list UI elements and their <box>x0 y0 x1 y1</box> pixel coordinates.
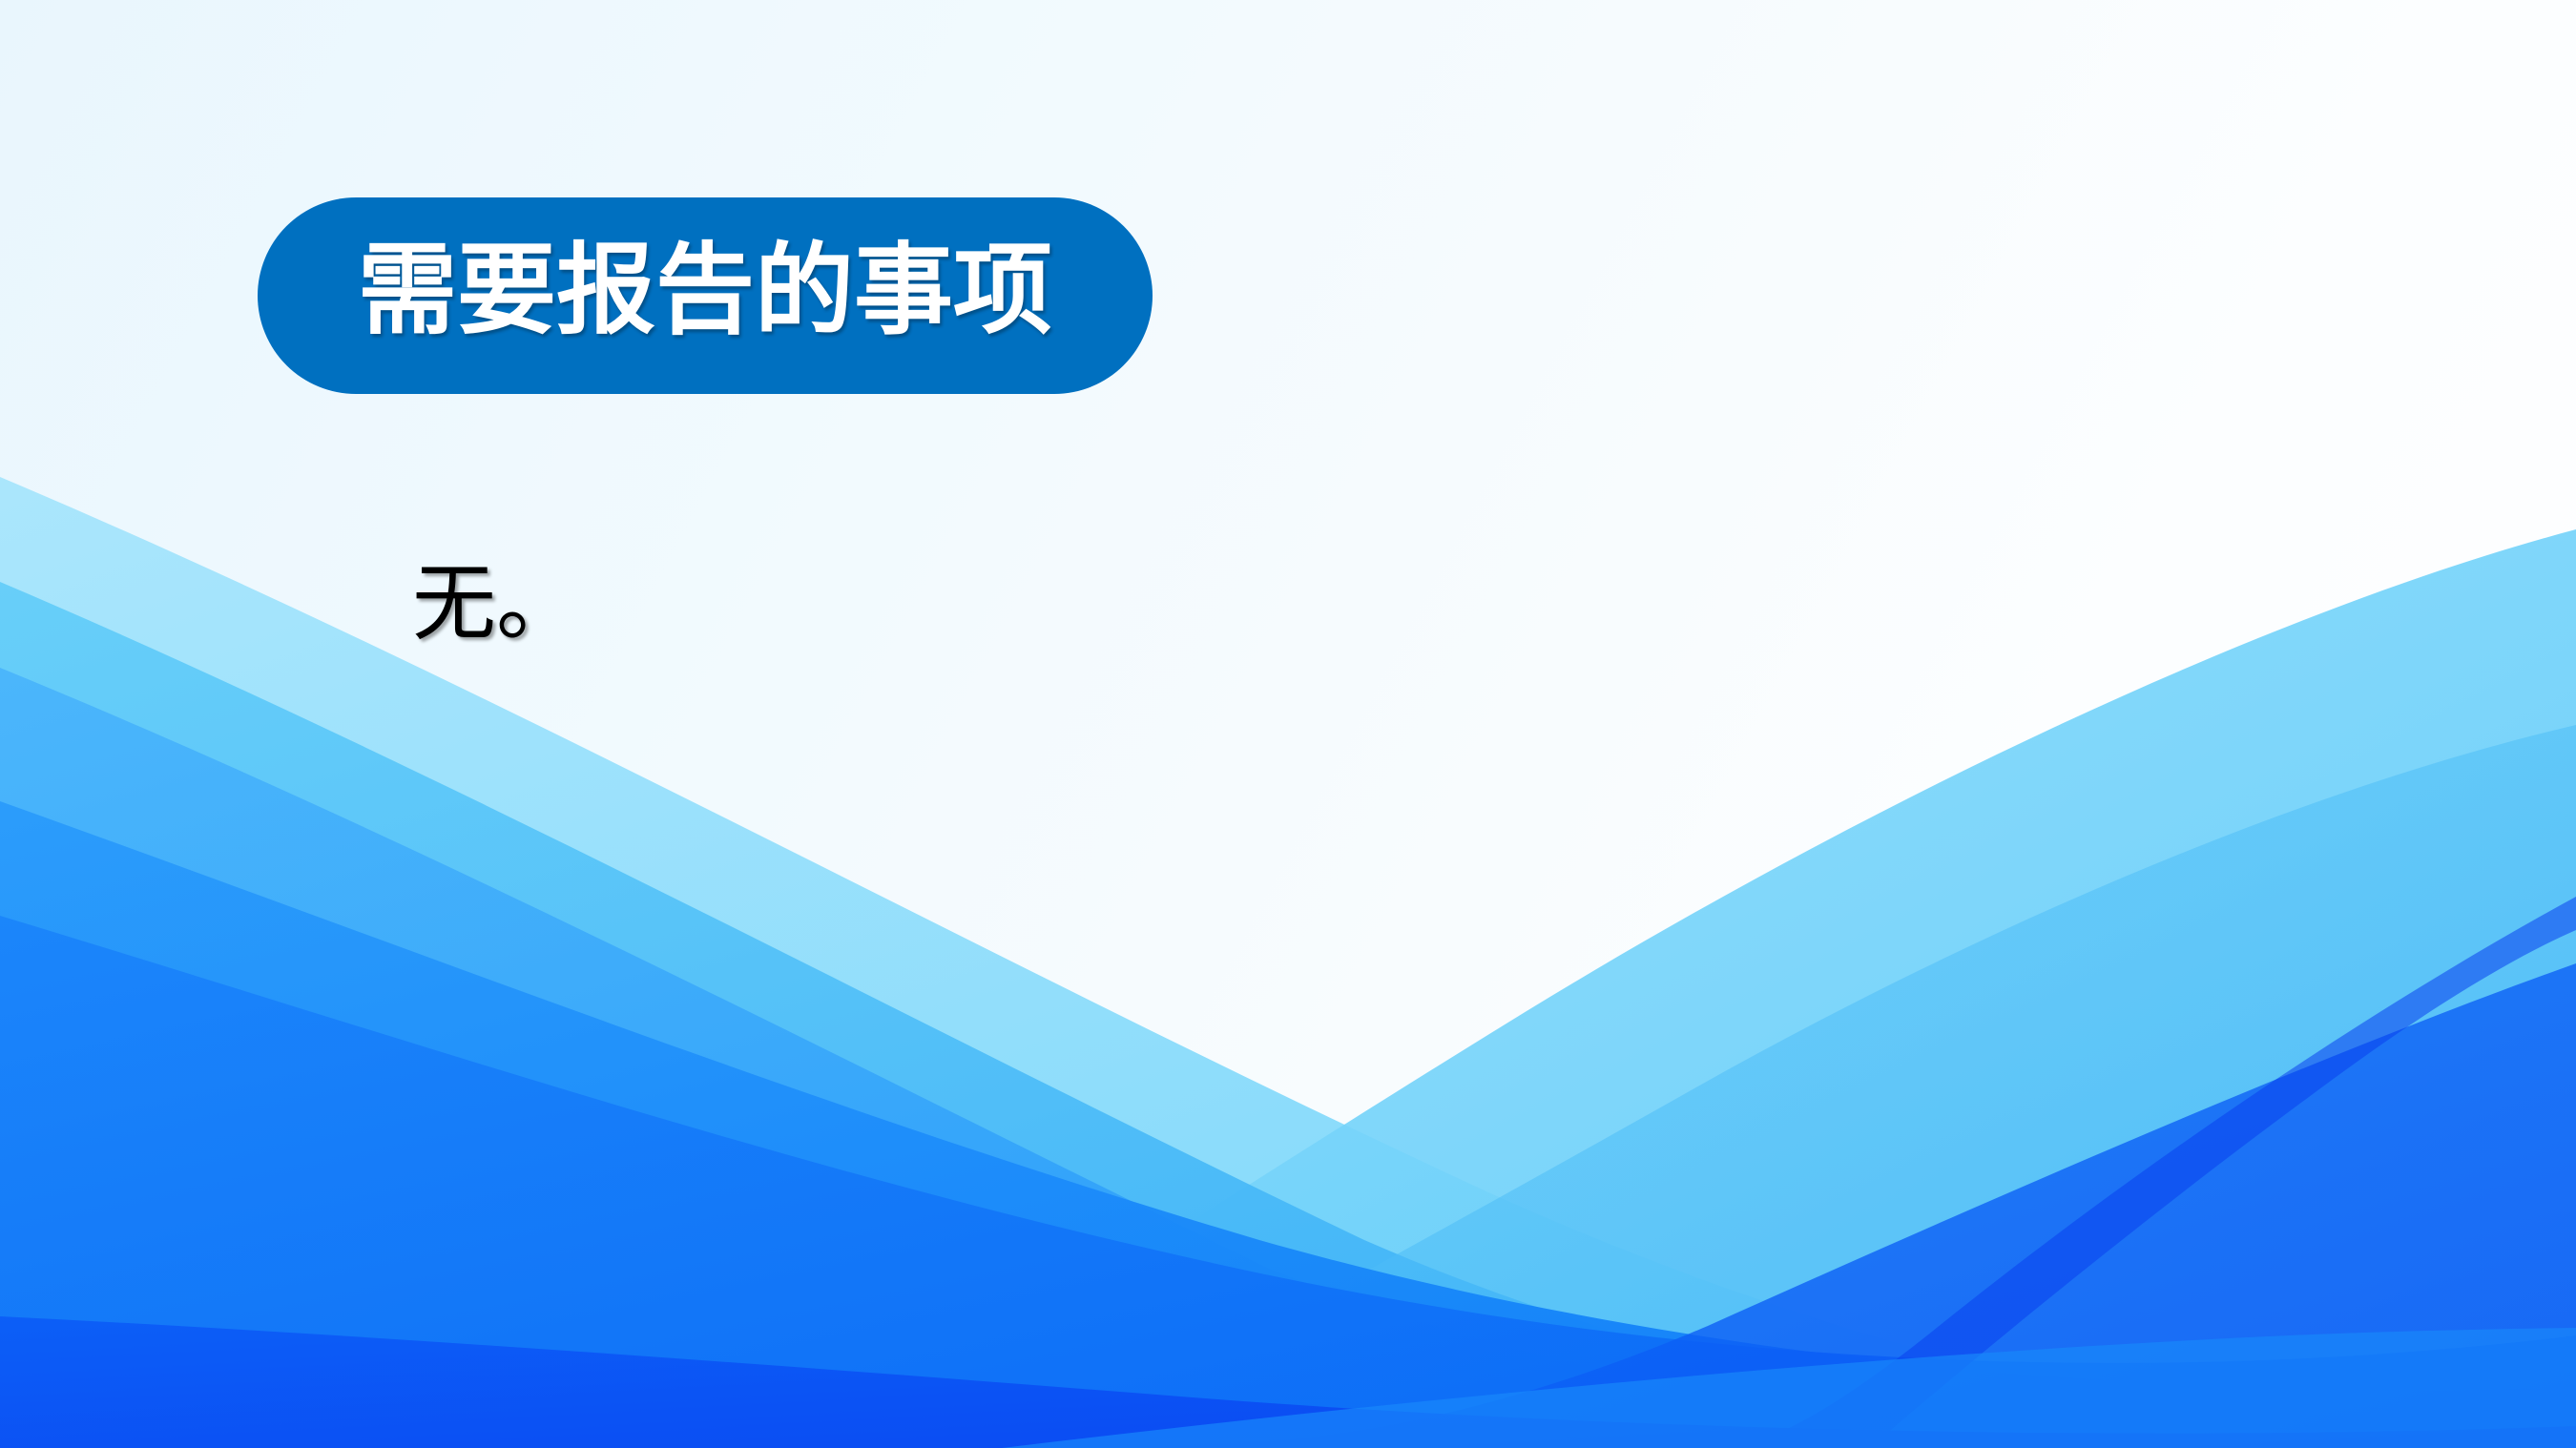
slide-body-text: 无。 <box>412 553 580 654</box>
slide-title-pill: 需要报告的事项 <box>258 197 1153 394</box>
wave-pale-right <box>859 529 2576 1448</box>
wave-blue-center <box>0 801 2576 1448</box>
wave-strong-lower <box>0 916 2576 1448</box>
wave-deep-diagonal <box>1126 963 2576 1448</box>
wave-royal-arc <box>1717 897 2576 1448</box>
slide-title-text: 需要报告的事项 <box>358 238 1052 342</box>
wave-azure-left <box>0 668 2576 1448</box>
wave-sky-left <box>0 582 2576 1448</box>
presentation-slide: 需要报告的事项 无。 <box>0 0 2576 1448</box>
wave-royal-bottom <box>0 1316 2576 1448</box>
wave-sky-right <box>1059 725 2576 1448</box>
wave-accent-bottom-right <box>1002 1328 2576 1448</box>
wave-pale-left <box>0 477 2576 1448</box>
